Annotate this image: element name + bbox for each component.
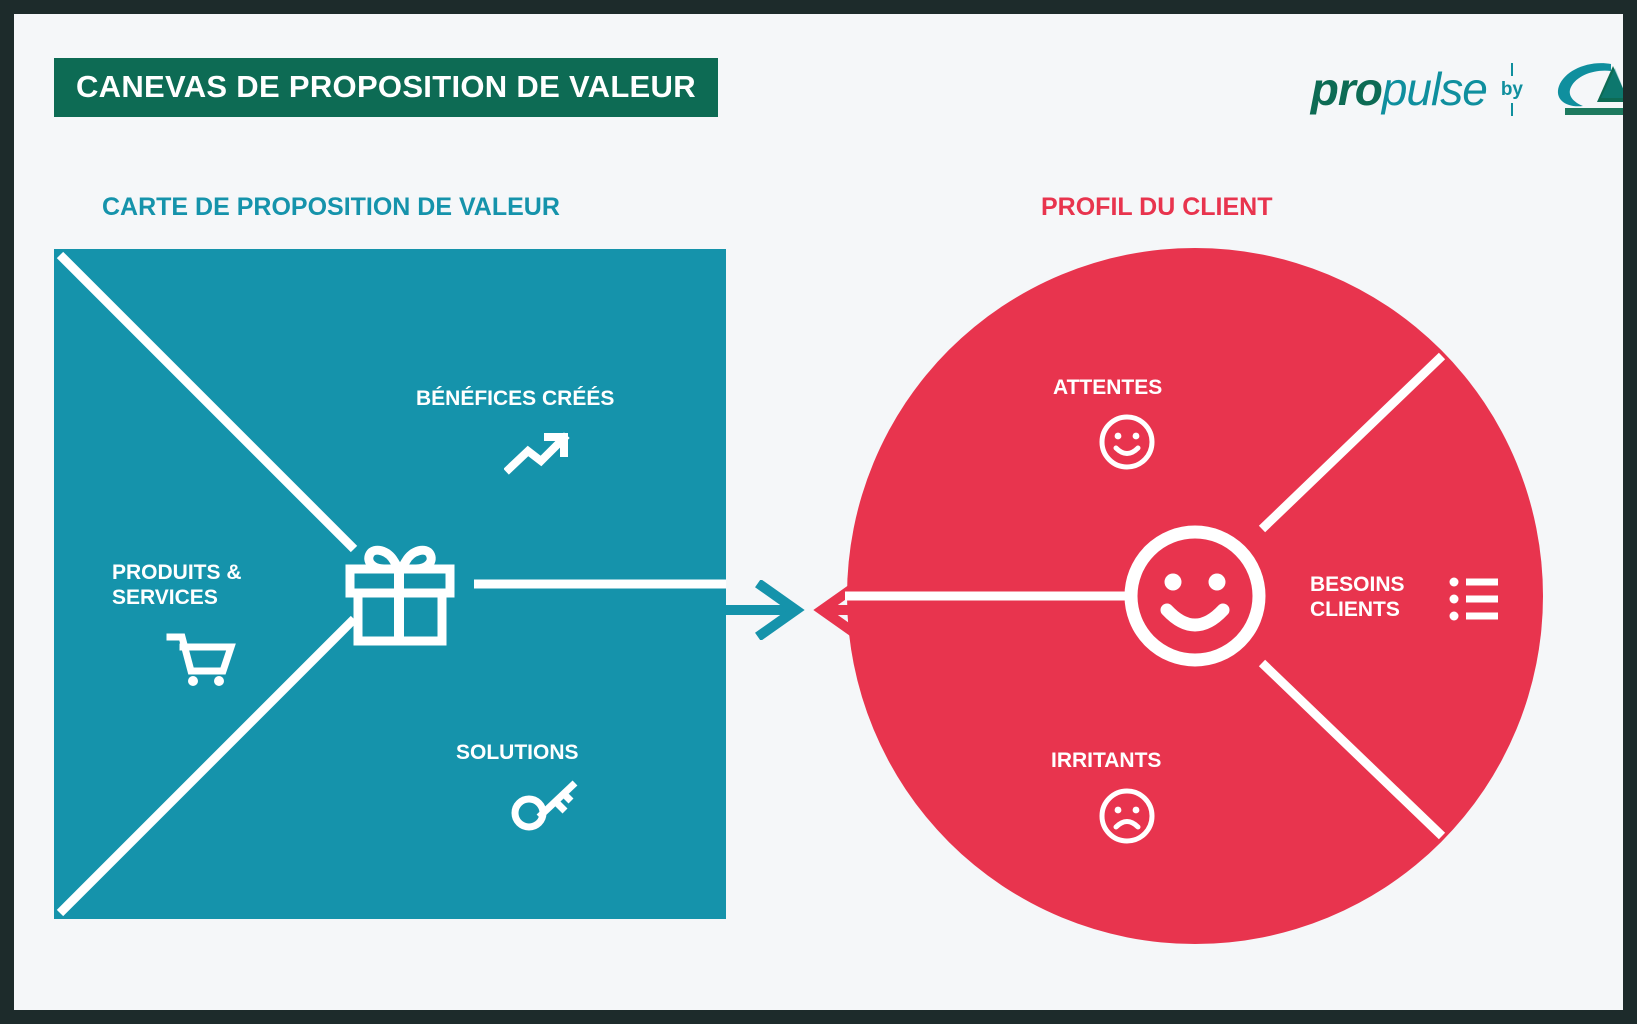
by-separator: by <box>1501 63 1523 116</box>
by-label: by <box>1501 80 1523 99</box>
propulse-pulse-text: pulse <box>1382 63 1487 115</box>
bullet-list-icon <box>1449 576 1499 627</box>
trending-up-icon <box>504 427 576 480</box>
customer-profile-circle: ATTENTES BESOINS CLIENTS IRRITANTS <box>845 246 1545 946</box>
propulse-pro-text: pro <box>1311 63 1382 115</box>
value-map-label-produits: PRODUITS & SERVICES <box>112 561 242 611</box>
page-title-banner: CANEVAS DE PROPOSITION DE VALEUR <box>54 58 718 117</box>
profile-label-besoins: BESOINS CLIENTS <box>1310 573 1405 623</box>
sad-face-icon <box>1097 786 1157 851</box>
brand-logo: propulse by <box>1311 58 1629 120</box>
credit-agricole-logo <box>1537 58 1629 120</box>
profile-label-irritants: IRRITANTS <box>1051 749 1161 774</box>
smiley-face-icon <box>1097 412 1157 477</box>
gift-icon <box>344 539 456 652</box>
value-map-label-benefices: BÉNÉFICES CRÉÉS <box>416 387 614 412</box>
value-map-label-solutions: SOLUTIONS <box>456 741 579 766</box>
value-map-heading: CARTE DE PROPOSITION DE VALEUR <box>102 195 560 220</box>
by-bar-bottom <box>1511 103 1513 116</box>
infographic-canvas: CANEVAS DE PROPOSITION DE VALEUR propuls… <box>0 0 1637 1024</box>
smiley-face-icon-center <box>1119 520 1271 677</box>
key-icon <box>509 779 581 836</box>
shopping-cart-icon <box>166 631 236 694</box>
profile-label-attentes: ATTENTES <box>1053 376 1162 401</box>
customer-profile-heading: PROFIL DU CLIENT <box>1041 195 1272 220</box>
page-title: CANEVAS DE PROPOSITION DE VALEUR <box>76 71 696 102</box>
by-bar-top <box>1511 63 1513 76</box>
propulse-wordmark: propulse <box>1311 66 1487 112</box>
